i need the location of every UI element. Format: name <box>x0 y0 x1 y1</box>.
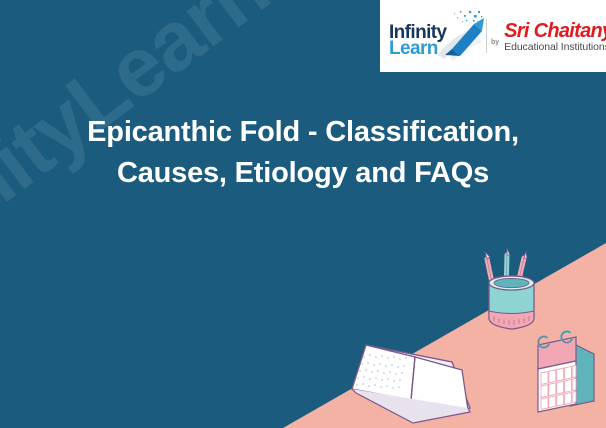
poster-canvas: InfinityLearn.com <box>0 0 606 428</box>
infinity-learn-logo[interactable]: Infinity Learn <box>386 7 482 65</box>
logo-by-label: by <box>491 39 499 46</box>
sri-chaitanya-title: Sri Chaitanya <box>504 21 606 41</box>
page-title: Epicanthic Fold - Classification, Causes… <box>34 112 572 194</box>
brand-logo-panel[interactable]: Infinity Learn by Sri Chaitanya Educatio… <box>380 0 606 72</box>
logo-divider <box>486 19 487 53</box>
logo-word-learn: Learn <box>389 39 438 58</box>
sri-chaitanya-logo[interactable]: Sri Chaitanya Educational Institutions <box>504 19 606 54</box>
sri-chaitanya-subtitle: Educational Institutions <box>504 42 606 54</box>
